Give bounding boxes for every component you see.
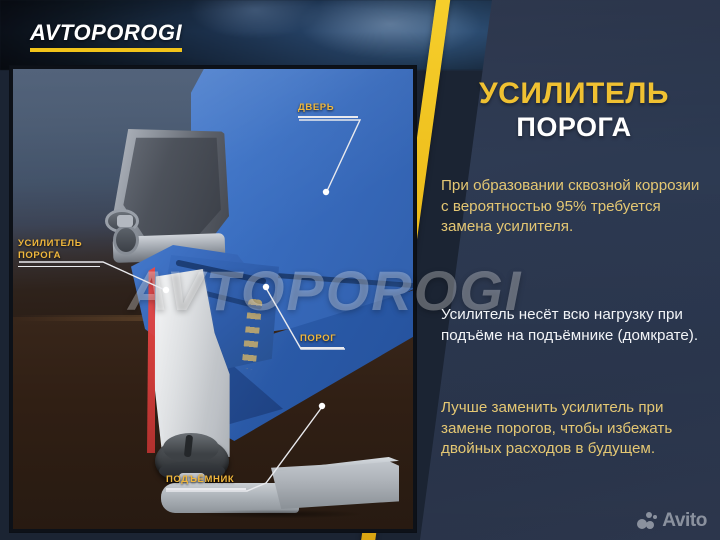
avito-wordmark: Avito [662, 510, 707, 532]
callout-label-reinforcement: УСИЛИТЕЛЬ ПОРОГА [18, 238, 100, 267]
callout-label-reinforcement-line2: ПОРОГА [18, 250, 100, 262]
avito-dots-icon [637, 512, 658, 530]
callout-label-lift: ПОДЪЁМНИК [166, 474, 246, 490]
body-clip-lower [113, 225, 139, 255]
callout-label-door-text: ДВЕРЬ [298, 102, 358, 113]
lift-arm-shadow [163, 509, 393, 519]
callout-label-reinforcement-line1: УСИЛИТЕЛЬ [18, 238, 100, 250]
cross-section-diagram [10, 66, 416, 532]
page-title-line2: ПОРОГА [448, 113, 700, 142]
body-clip-tab [117, 215, 133, 227]
brand-logo-text: AVTOPOROGI [30, 22, 182, 44]
body-paragraph-1: При образовании сквозной коррозии с веро… [441, 176, 709, 238]
body-paragraph-2: Усилитель несёт всю нагрузку при подъёме… [441, 305, 709, 346]
callout-label-sill-rule [300, 347, 344, 349]
callout-label-sill-text: ПОРОГ [300, 333, 344, 344]
lift-arm-pad [271, 461, 399, 509]
page-title: УСИЛИТЕЛЬ ПОРОГА [448, 78, 700, 141]
callout-label-door: ДВЕРЬ [298, 102, 358, 118]
callout-label-reinforcement-rule [18, 266, 100, 268]
ad-image-root: AVTOPOROGI [0, 0, 720, 540]
body-paragraph-3: Лучше заменить усилитель при замене поро… [441, 398, 709, 460]
avito-watermark: Avito [637, 510, 707, 532]
page-title-line1: УСИЛИТЕЛЬ [448, 78, 700, 110]
brand-logo: AVTOPOROGI [30, 22, 182, 52]
callout-label-door-rule [298, 116, 358, 118]
callout-label-lift-text: ПОДЪЁМНИК [166, 474, 246, 485]
callout-label-sill: ПОРОГ [300, 333, 344, 349]
callout-label-lift-rule [166, 488, 246, 490]
brand-logo-underline [30, 48, 182, 52]
